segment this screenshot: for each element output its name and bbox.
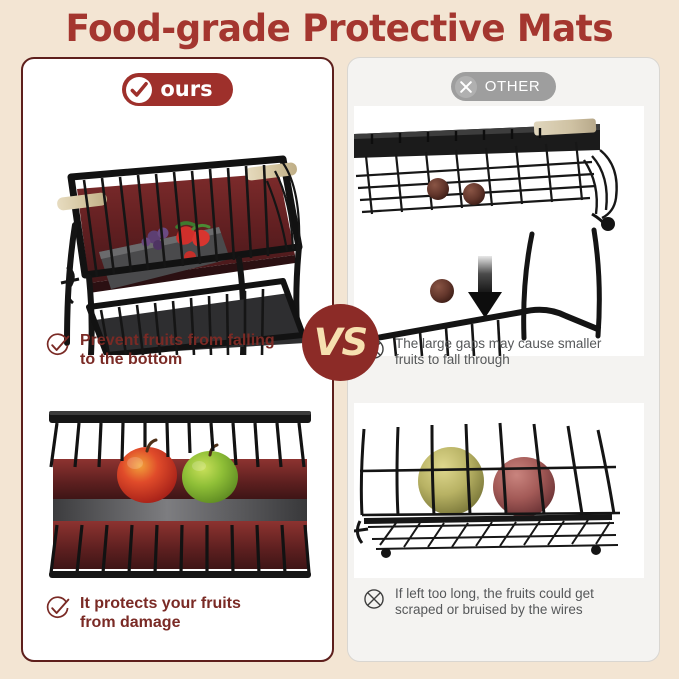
x-circle-icon	[362, 587, 386, 616]
page-title: Food-grade Protective Mats	[0, 4, 679, 52]
badge-row-other: OTHER	[348, 72, 659, 101]
badge-ours-label: ours	[160, 79, 212, 100]
caption-ours-top: Prevent fruits from falling to the botto…	[45, 331, 315, 369]
caption-other-bottom-text: If left too long, the fruits could get s…	[395, 586, 594, 618]
badge-other-label: OTHER	[485, 79, 541, 94]
versus-badge: VS	[302, 304, 379, 381]
caption-ours-bottom-text: It protects your fruits from damage	[80, 594, 241, 632]
badge-ours: ours	[122, 73, 232, 106]
check-circle-icon	[45, 595, 71, 626]
page-title-text: Food-grade Protective Mats	[66, 7, 614, 50]
photo-other-fruit-on-bare-wires	[354, 403, 644, 578]
x-circle-icon	[455, 76, 477, 98]
check-circle-icon	[126, 77, 152, 103]
photo-ours-two-tier-basket	[27, 107, 332, 355]
caption-other-top: The large gaps may cause smaller fruits …	[362, 336, 648, 368]
panel-other: OTHER	[347, 57, 660, 662]
caption-other-top-text: The large gaps may cause smaller fruits …	[395, 336, 601, 368]
versus-label: VS	[314, 324, 367, 361]
panel-ours: ours	[21, 57, 334, 662]
photo-other-gaps-falling-fruit	[354, 106, 644, 356]
badge-other: OTHER	[451, 72, 557, 101]
badge-row-ours: ours	[23, 73, 332, 106]
photo-ours-apples-on-mat	[27, 395, 332, 580]
check-circle-icon	[45, 332, 71, 363]
caption-ours-top-text: Prevent fruits from falling to the botto…	[80, 331, 275, 369]
caption-ours-bottom: It protects your fruits from damage	[45, 594, 315, 632]
caption-other-bottom: If left too long, the fruits could get s…	[362, 586, 648, 618]
